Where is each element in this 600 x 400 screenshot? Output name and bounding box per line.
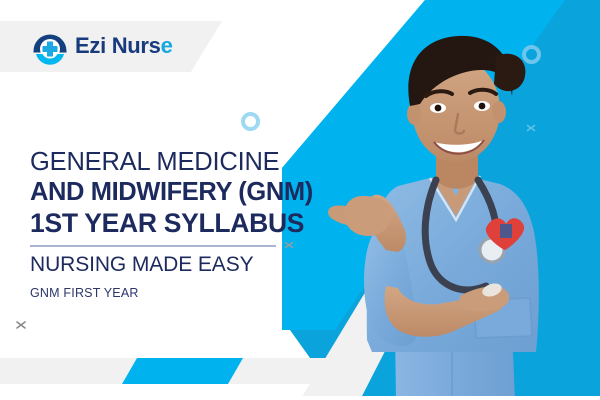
nurse-ear-right <box>492 101 506 123</box>
nurse-ear-left <box>407 103 421 125</box>
promo-banner: Ezi Nurse GENERAL MEDICINE AND MIDWIFERY… <box>0 0 600 400</box>
nurse-photo <box>0 0 600 400</box>
nurse-hair-bun <box>494 54 525 91</box>
